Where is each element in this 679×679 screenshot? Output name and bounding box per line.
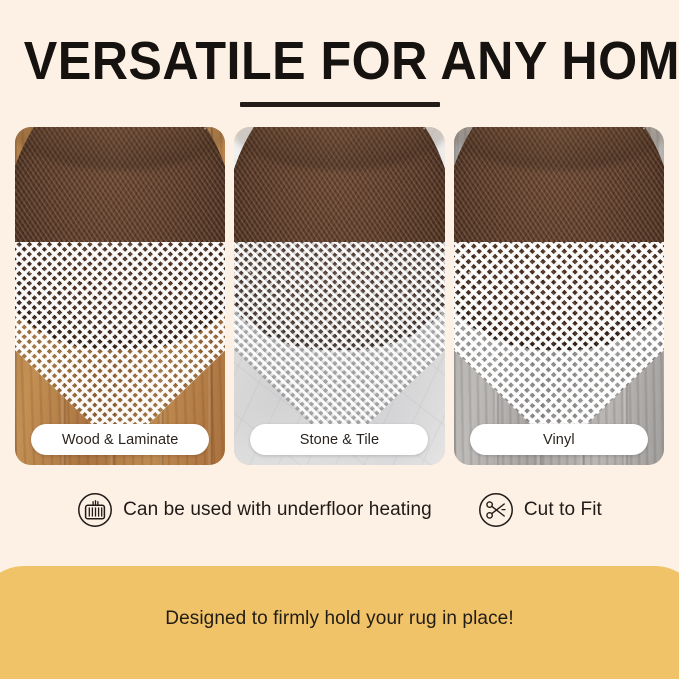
panel-label-pill: Wood & Laminate	[31, 424, 209, 455]
page-title: VERSATILE FOR ANY HOME	[24, 32, 655, 90]
feature-label: Cut to Fit	[524, 499, 602, 521]
title-underline-rule	[240, 102, 440, 107]
flooring-panel-stone-tile[interactable]: Stone & Tile	[234, 127, 444, 465]
panel-label-pill: Vinyl	[470, 424, 648, 455]
underfloor-heating-icon	[77, 492, 113, 528]
feature-cut-to-fit: Cut to Fit	[478, 492, 602, 528]
page-header: VERSATILE FOR ANY HOME	[0, 32, 679, 107]
banner-text: Designed to firmly hold your rug in plac…	[0, 608, 679, 630]
flooring-panel-vinyl[interactable]: Vinyl	[454, 127, 664, 465]
flooring-panels: Wood & Laminate Stone & Tile Vinyl	[15, 127, 664, 465]
feature-label: Can be used with underfloor heating	[123, 499, 432, 521]
feature-underfloor-heating: Can be used with underfloor heating	[77, 492, 432, 528]
bottom-banner: Designed to firmly hold your rug in plac…	[0, 566, 679, 679]
flooring-panel-wood-laminate[interactable]: Wood & Laminate	[15, 127, 225, 465]
panel-label-pill: Stone & Tile	[250, 424, 428, 455]
scissors-icon	[478, 492, 514, 528]
feature-list: Can be used with underfloor heating Cut …	[0, 492, 679, 528]
